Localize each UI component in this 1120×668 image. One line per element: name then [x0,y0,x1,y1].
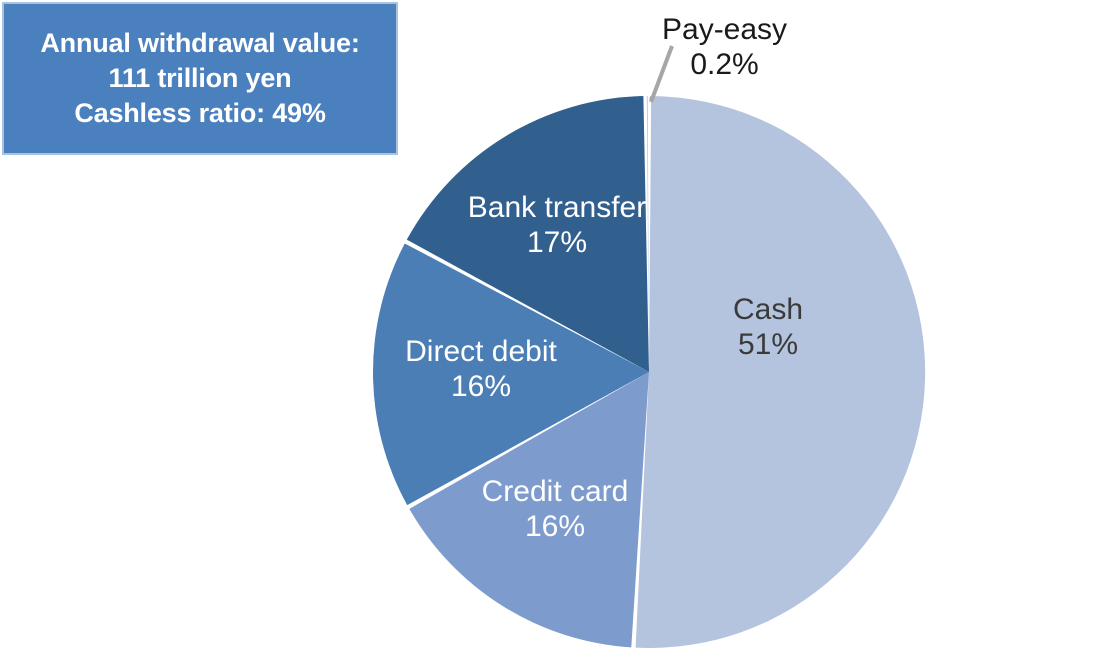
summary-line-cashless-ratio: Cashless ratio: 49% [74,96,325,131]
summary-line-amount: 111 trillion yen [109,61,292,96]
pay-easy-leader-line-upper [640,40,690,110]
summary-line-annual-withdrawal-value: Annual withdrawal value: [40,26,359,61]
pie-slice-cash[interactable] [636,96,926,648]
summary-callout-box: Annual withdrawal value: 111 trillion ye… [2,2,398,155]
pie-chart [370,96,928,650]
pie-slices [373,96,925,648]
